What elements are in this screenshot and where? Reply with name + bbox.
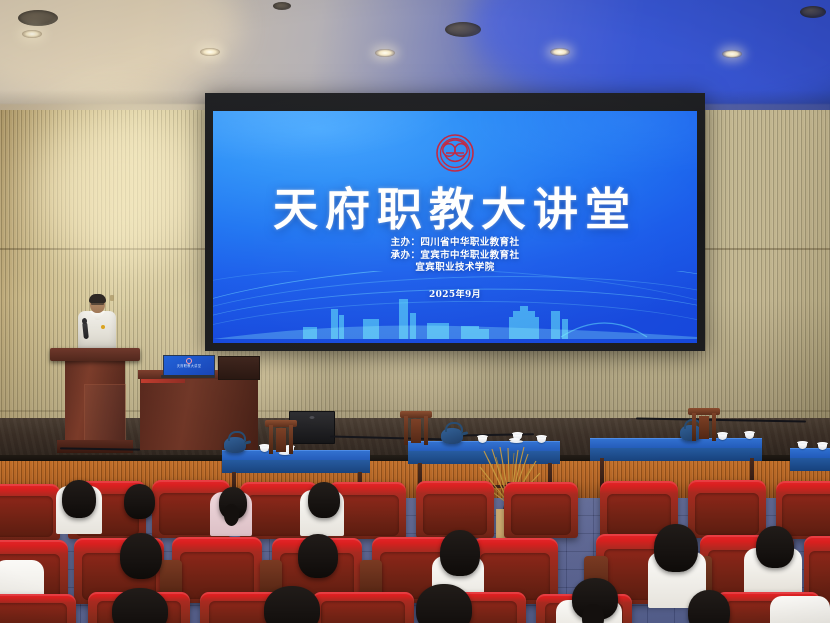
audience-member-head <box>120 533 162 579</box>
slide-subtitle: 主办：四川省中华职业教育社 承办：宜宾市中华职业教育社 宜宾职业技术学院 <box>213 237 697 275</box>
chair-splat <box>276 428 286 452</box>
auditorium-seat[interactable] <box>504 482 578 538</box>
tea-table <box>590 438 762 460</box>
conference-hall-photo: 天府职教大讲堂 主办：四川省中华职业教育社 承办：宜宾市中华职业教育社 宜宾职业… <box>0 0 830 623</box>
ceiling-vent <box>445 22 481 37</box>
auditorium-seat[interactable] <box>0 484 60 540</box>
wooden-armchair <box>400 411 432 445</box>
co-organizer-line: 承办：宜宾市中华职业教育社 <box>213 250 697 263</box>
audience-member <box>416 584 472 623</box>
chair-post <box>289 425 293 454</box>
ceiling-vent <box>273 2 291 10</box>
audience-member <box>654 524 698 572</box>
presenter-glasses <box>91 302 104 305</box>
tea-table-skirt <box>222 460 370 473</box>
audience-member-head <box>308 482 340 518</box>
chair-splat <box>411 419 421 443</box>
audience-member <box>440 530 480 576</box>
audience-member <box>756 526 794 568</box>
wooden-armchair <box>688 408 720 441</box>
chair-splat <box>699 416 709 439</box>
auditorium-seat[interactable] <box>312 592 414 623</box>
slide-bottom-graphic <box>213 271 697 343</box>
audience-member-ponytail <box>582 604 604 623</box>
laptop-base <box>161 375 215 378</box>
audience-member-head <box>62 480 96 518</box>
chair-post <box>424 416 428 445</box>
audience-member <box>688 590 730 623</box>
audience-member-head <box>264 586 320 623</box>
lectern-body <box>65 360 125 442</box>
audience-member <box>308 482 340 518</box>
teapot <box>224 437 246 453</box>
chair-post <box>269 425 273 454</box>
lectern <box>56 348 134 454</box>
audience-member <box>120 533 162 579</box>
audience-member-torso <box>770 596 830 623</box>
audience-member-head <box>654 524 698 572</box>
audience-member-head <box>112 588 168 623</box>
laptop-screen: 天府职教大讲堂 <box>163 355 215 377</box>
audience-member-head <box>124 484 155 519</box>
audience-member <box>124 484 155 519</box>
audience-member <box>62 480 96 518</box>
audience-member-head <box>298 534 338 578</box>
saucer <box>510 440 523 443</box>
chair-post <box>404 416 408 445</box>
ceiling-downlight <box>722 50 742 58</box>
desk-monitor-back <box>218 356 260 380</box>
teapot <box>441 428 463 444</box>
audience-member-head <box>416 584 472 623</box>
ceiling-downlight <box>550 48 570 56</box>
presenter-badge <box>101 325 105 329</box>
presenter-laptop[interactable]: 天府职教大讲堂 <box>163 355 213 378</box>
ceiling-downlight <box>22 30 42 38</box>
audience-member-ponytail <box>224 504 239 526</box>
chair-post <box>712 413 716 441</box>
slide-title: 天府职教大讲堂 <box>213 173 697 238</box>
presenter-at-podium <box>77 295 117 353</box>
wooden-armchair <box>265 420 297 454</box>
ceiling-downlight <box>200 48 220 56</box>
ceiling-vent <box>18 10 58 26</box>
lectern-top <box>50 348 140 361</box>
laptop-screen-text: 天府职教大讲堂 <box>164 363 214 368</box>
audience-member-head <box>440 530 480 576</box>
organizer-line: 主办：四川省中华职业教育社 <box>213 237 697 250</box>
desk-red-stripe <box>141 379 185 383</box>
tea-table-skirt <box>790 458 830 471</box>
led-presentation-screen[interactable]: 天府职教大讲堂 主办：四川省中华职业教育社 承办：宜宾市中华职业教育社 宜宾职业… <box>213 111 697 343</box>
lectern-front-panel <box>84 384 126 442</box>
audience-member-head <box>756 526 794 568</box>
cvea-emblem-icon <box>435 133 475 173</box>
chair-post <box>692 413 696 441</box>
ceiling-vent <box>800 6 826 18</box>
auditorium-seat[interactable] <box>0 594 76 623</box>
audience-member <box>112 588 168 623</box>
tea-table <box>790 448 830 468</box>
audience-member-head <box>688 590 730 623</box>
tea-table-skirt <box>590 448 762 461</box>
ceiling-downlight <box>375 49 395 57</box>
audience-member <box>264 586 320 623</box>
city-skyline-graphic <box>213 293 697 339</box>
auditorium-seat[interactable] <box>688 480 766 538</box>
audience-member <box>298 534 338 578</box>
